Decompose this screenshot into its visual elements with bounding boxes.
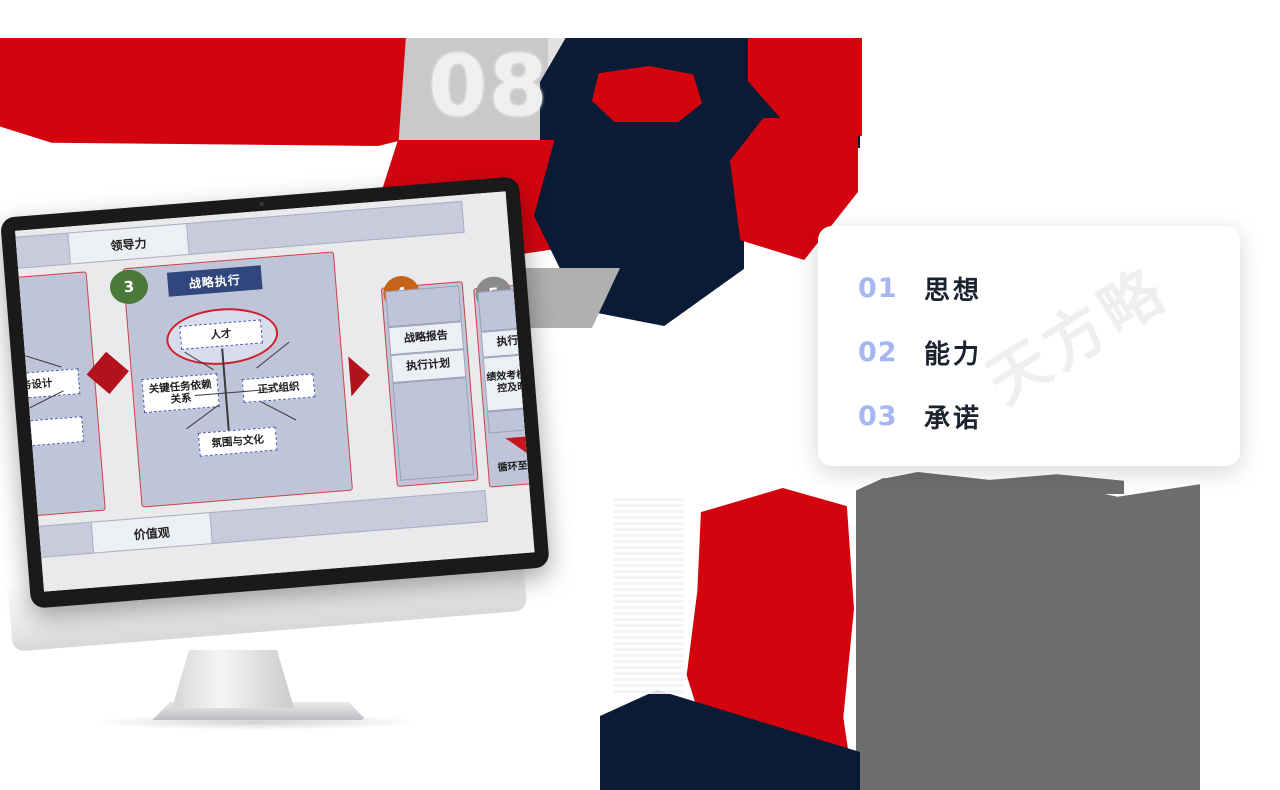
- node-formal-org-label: 正式组织: [257, 381, 300, 396]
- list-item-number: 01: [858, 273, 924, 304]
- mask-gray-paragraph: [856, 478, 1200, 790]
- mask-light-strips: [614, 498, 684, 694]
- list-item-number: 02: [858, 337, 924, 368]
- monitor-bezel: 天方略 领导力 价值观 业务设计: [0, 176, 550, 608]
- step5-cell-2: 绩效考核业绩监控及时调整: [483, 352, 535, 412]
- arrow-loop-down: [505, 435, 534, 455]
- monitor-screen[interactable]: 天方略 领导力 价值观 业务设计: [15, 191, 534, 591]
- key-points-card: 天方略 01 思想 02 能力 03 承诺: [818, 226, 1240, 466]
- list-item[interactable]: 01 思想: [858, 256, 1220, 320]
- monitor-neck: [172, 650, 294, 708]
- step4-cell-blank-top: [385, 285, 462, 327]
- presentation-slide: 天方略 领导力 价值观 业务设计: [15, 191, 534, 591]
- step4-cell-blank-bottom: [393, 377, 475, 481]
- webcam-icon: [260, 202, 264, 206]
- list-item[interactable]: 02 能力: [858, 320, 1220, 384]
- list-item-label: 能力: [924, 334, 982, 371]
- list-item-label: 承诺: [924, 398, 982, 435]
- arrow-right: [348, 355, 371, 396]
- key-points-list: 01 思想 02 能力 03 承诺: [858, 256, 1220, 448]
- desktop-monitor: 天方略 领导力 价值观 业务设计: [0, 218, 545, 678]
- step5-cell-blank-top: [477, 286, 534, 332]
- list-item-label: 思想: [924, 270, 982, 307]
- list-item-number: 03: [858, 401, 924, 432]
- band-label-values: 价值观: [91, 512, 213, 554]
- list-item[interactable]: 03 承诺: [858, 384, 1220, 448]
- step5-cell-1: 执行评价: [481, 326, 535, 358]
- slide-canvas: 08 天方略 领导力 价值观: [0, 0, 1280, 790]
- mask-red-headline: [0, 38, 430, 146]
- band-label-leadership: 领导力: [67, 223, 189, 265]
- mask-gray-paragraph-top: [884, 472, 1124, 494]
- node-culture-label: 氛围与文化: [211, 434, 264, 450]
- loop-note: 循环至①: [497, 456, 535, 474]
